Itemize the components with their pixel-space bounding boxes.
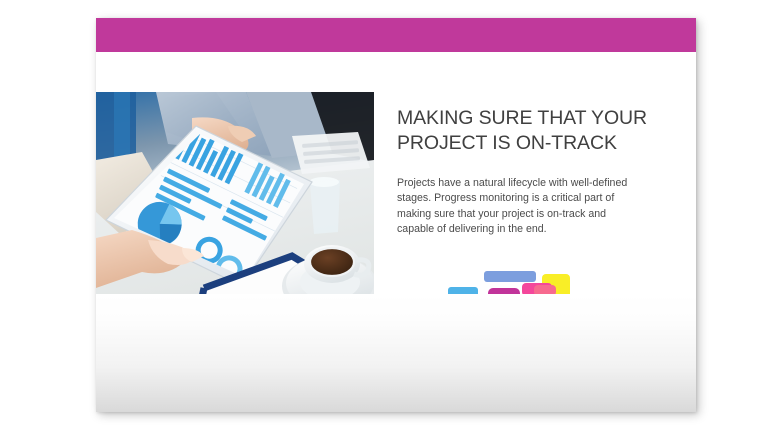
letter-a-badge: A [488,288,520,320]
page-title: MAKING SURE THAT YOUR PROJECT IS ON-TRAC… [397,106,659,156]
magenta-header-band [96,18,696,52]
screenshot-canvas: MAKING SURE THAT YOUR PROJECT IS ON-TRAC… [0,0,770,440]
svg-text:A: A [494,289,514,319]
slide-body-text: Projects have a natural lifecycle with w… [397,156,644,238]
business-meeting-photo [96,92,374,345]
project-timeline-gantt-icon: A [434,266,584,340]
slide-text-column: MAKING SURE THAT YOUR PROJECT IS ON-TRAC… [397,106,659,238]
presentation-slide: MAKING SURE THAT YOUR PROJECT IS ON-TRAC… [96,18,696,412]
